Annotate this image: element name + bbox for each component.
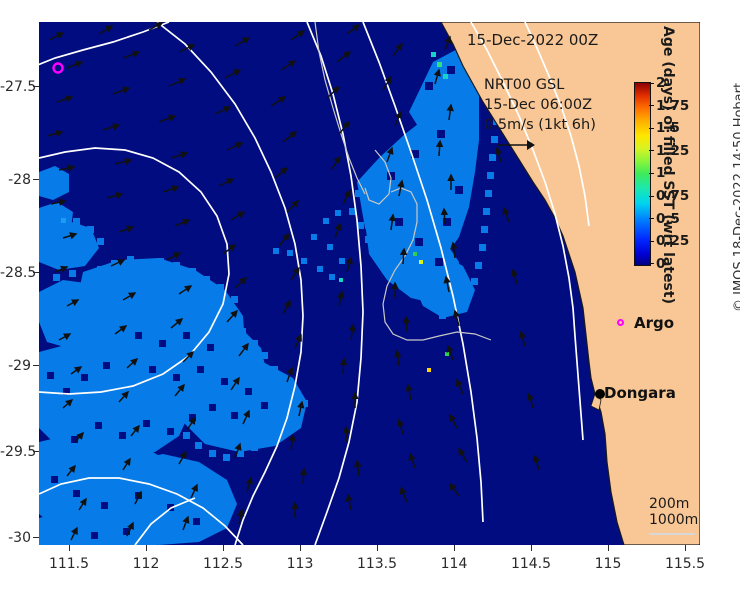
x-tick-label: 115 <box>573 556 643 572</box>
colorbar-tick <box>649 150 654 151</box>
x-tick-label: 113 <box>265 556 335 572</box>
x-tick <box>300 545 301 551</box>
date-stamp-label: 15-Dec-2022 00Z <box>467 31 598 49</box>
colorbar-tick <box>649 105 654 106</box>
x-tick-label: 111.5 <box>34 556 104 572</box>
y-tick <box>33 365 39 366</box>
model-name-label: NRT00 GSL <box>484 77 564 93</box>
colorbar[interactable] <box>634 82 651 266</box>
x-tick <box>531 545 532 551</box>
colorbar-tick <box>649 196 654 197</box>
x-tick-label: 113.5 <box>342 556 412 572</box>
velocity-reference-arrow <box>496 137 536 153</box>
x-tick <box>454 545 455 551</box>
x-tick <box>377 545 378 551</box>
y-tick-label: -27.5 <box>0 79 31 95</box>
x-tick-label: 112 <box>111 556 181 572</box>
y-tick-label: -29.5 <box>0 444 31 460</box>
y-tick-label: -30 <box>0 530 31 546</box>
depth-contour-1000m-label: 1000m <box>649 512 698 528</box>
depth-contour-legend-line <box>649 533 695 535</box>
map-plot-area[interactable]: 15-Dec-2022 00Z NRT00 GSL 15-Dec 06:00Z … <box>39 22 700 545</box>
model-valid-time-label: 15-Dec 06:00Z <box>484 97 592 113</box>
colorbar-title: Age (days) of filled SST (wrt latest) <box>660 26 676 326</box>
x-tick-label: 115.5 <box>650 556 720 572</box>
colorbar-tick <box>649 241 654 242</box>
colorbar-tick <box>649 263 654 264</box>
figure-root: 15-Dec-2022 00Z NRT00 GSL 15-Dec 06:00Z … <box>0 0 740 592</box>
argo-legend-label: Argo <box>634 314 674 332</box>
colorbar-tick <box>649 83 654 84</box>
x-tick-label: 114 <box>419 556 489 572</box>
y-tick-label: -28 <box>0 172 31 188</box>
map-canvas <box>39 22 700 545</box>
x-tick-label: 112.5 <box>188 556 258 572</box>
colorbar-tick <box>649 128 654 129</box>
sst-age-field <box>39 22 700 545</box>
colorbar-tick <box>649 173 654 174</box>
y-tick-label: -29 <box>0 358 31 374</box>
argo-marker-icon <box>617 319 624 326</box>
x-tick <box>69 545 70 551</box>
x-tick-label: 114.5 <box>496 556 566 572</box>
x-tick <box>608 545 609 551</box>
copyright-label: © IMOS 18-Dec-2022 14:50 Hobart <box>732 83 740 312</box>
depth-contour-legend: 200m 1000m <box>649 496 698 528</box>
y-tick-label: -28.5 <box>0 265 31 281</box>
x-tick <box>146 545 147 551</box>
y-tick <box>33 537 39 538</box>
dongara-place-label: Dongara <box>604 384 676 402</box>
colorbar-tick <box>649 218 654 219</box>
x-tick <box>223 545 224 551</box>
velocity-scale-label: 0.5m/s (1kt 6h) <box>484 117 596 133</box>
y-tick <box>33 179 39 180</box>
x-tick <box>685 545 686 551</box>
depth-contour-200m-label: 200m <box>649 496 698 512</box>
